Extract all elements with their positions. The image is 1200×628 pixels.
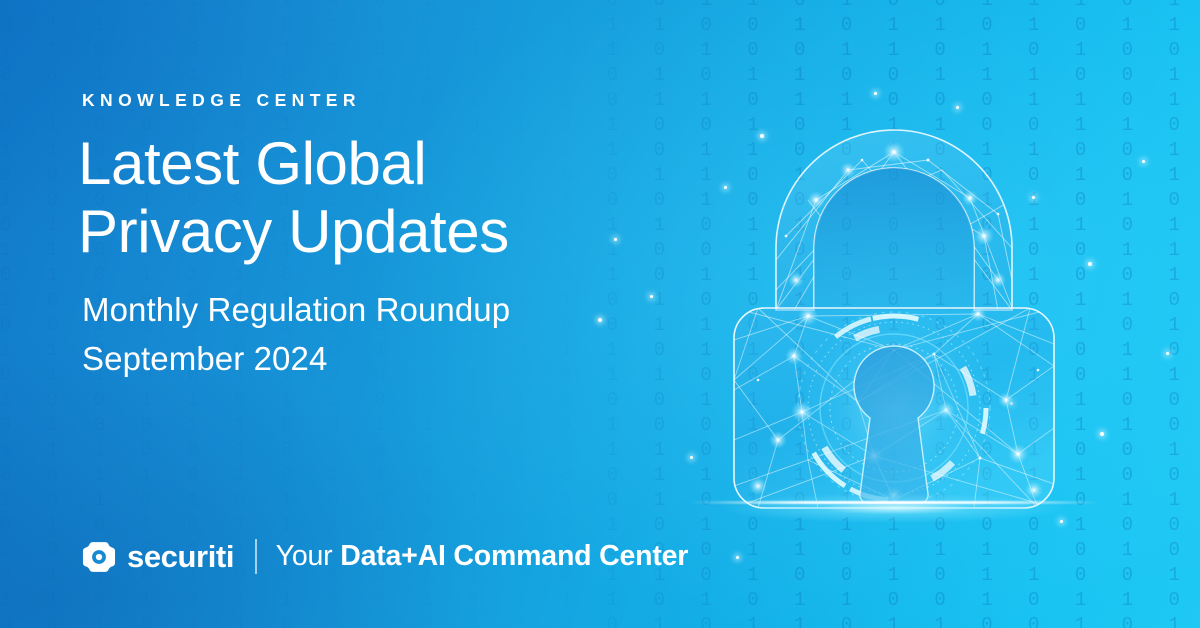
- text-content: KNOWLEDGE CENTER Latest Global Privacy U…: [82, 0, 702, 628]
- sparkle-dot: [1166, 352, 1169, 355]
- tagline: Your Data+AI Command Center: [276, 542, 688, 571]
- brand-lockup: securiti Your Data+AI Command Center: [82, 539, 688, 574]
- sparkle-dot: [1100, 432, 1104, 436]
- knowledge-center-banner: 1 0 0 1 1 0 1 0 0 1 1 1 0 1 0 0 1 1 0 1 …: [0, 0, 1200, 628]
- securiti-wordmark: securiti: [127, 541, 234, 572]
- page-title: Latest Global Privacy Updates: [78, 130, 509, 266]
- vertical-divider: [255, 539, 257, 574]
- sparkle-dot: [956, 106, 959, 109]
- sparkle-dot: [760, 134, 764, 138]
- padlock-illustration: [698, 140, 1090, 540]
- securiti-logo-icon: [82, 540, 116, 574]
- tagline-bold-part: Data+AI Command Center: [340, 540, 688, 572]
- tagline-light-part: Your: [276, 540, 341, 572]
- eyebrow-label: KNOWLEDGE CENTER: [82, 90, 361, 111]
- page-subtitle: Monthly Regulation Roundup September 202…: [82, 285, 510, 383]
- sparkle-dot: [736, 556, 739, 559]
- sparkle-dot: [874, 92, 877, 95]
- sparkle-dot: [1142, 160, 1145, 163]
